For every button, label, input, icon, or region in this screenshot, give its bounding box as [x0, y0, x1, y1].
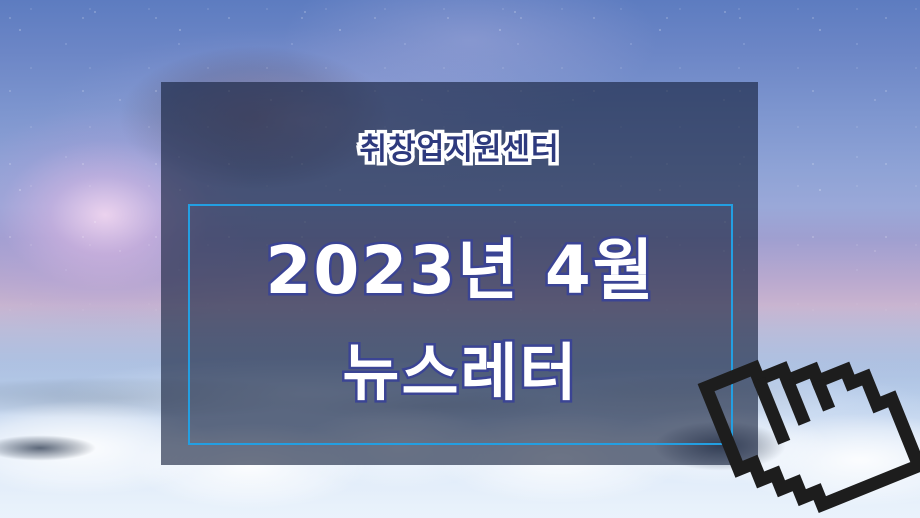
- title-line-date: 2023년 4월: [188, 232, 733, 310]
- rock-outcrop-left: [0, 432, 120, 472]
- newsletter-poster: 취창업지원센터 2023년 4월 뉴스레터: [0, 0, 920, 518]
- title-line-newsletter: 뉴스레터: [188, 336, 733, 410]
- organization-label: 취창업지원센터: [161, 124, 758, 168]
